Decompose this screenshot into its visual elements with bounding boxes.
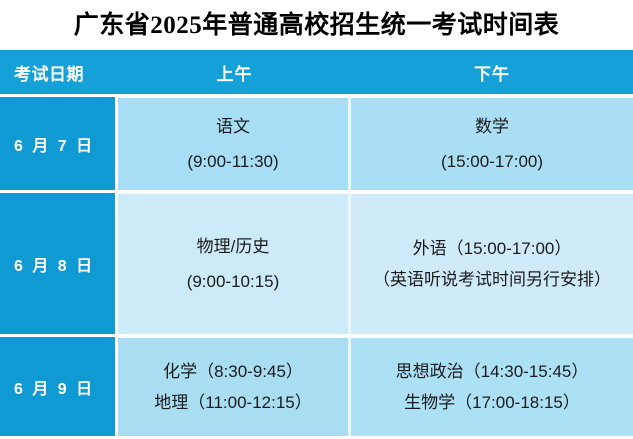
subject-name: 物理/历史 bbox=[197, 236, 270, 257]
subject-time: (15:00-17:00) bbox=[441, 151, 543, 172]
column-header-date: 考试日期 bbox=[0, 50, 118, 94]
page-title: 广东省2025年普通高校招生统一考试时间表 bbox=[74, 13, 560, 38]
cell-afternoon-session: 外语（15:00-17:00） （英语听说考试时间另行安排） bbox=[351, 190, 633, 334]
subject-name-time: 思想政治（14:30-15:45） bbox=[396, 361, 589, 382]
page-title-bar: 广东省2025年普通高校招生统一考试时间表 bbox=[0, 0, 633, 50]
subject-note: （英语听说考试时间另行安排） bbox=[373, 269, 611, 290]
exam-schedule-page: 广东省2025年普通高校招生统一考试时间表 考试日期 上午 下午 6 月 7 日… bbox=[0, 0, 633, 439]
cell-morning-session: 语文 (9:00-11:30) bbox=[118, 94, 351, 190]
table-row: 6 月 9 日 化学（8:30-9:45） 地理（11:00-12:15） 思想… bbox=[0, 334, 633, 436]
cell-exam-date: 6 月 9 日 bbox=[0, 334, 118, 436]
cell-morning-session: 化学（8:30-9:45） 地理（11:00-12:15） bbox=[118, 334, 351, 436]
subject-name-time: 生物学（17:00-18:15） bbox=[404, 392, 580, 413]
table-body: 6 月 7 日 语文 (9:00-11:30) 数学 (15:00-17:00)… bbox=[0, 94, 633, 436]
subject-time: (9:00-11:30) bbox=[187, 151, 278, 172]
subject-time: (9:00-10:15) bbox=[187, 271, 280, 292]
cell-afternoon-session: 数学 (15:00-17:00) bbox=[351, 94, 633, 190]
table-header: 考试日期 上午 下午 bbox=[0, 50, 633, 94]
subject-name-time: 地理（11:00-12:15） bbox=[154, 392, 311, 413]
subject-name-time: 外语（15:00-17:00） bbox=[413, 238, 572, 259]
cell-afternoon-session: 思想政治（14:30-15:45） 生物学（17:00-18:15） bbox=[351, 334, 633, 436]
subject-name-time: 化学（8:30-9:45） bbox=[163, 361, 303, 382]
cell-exam-date: 6 月 8 日 bbox=[0, 190, 118, 334]
column-header-afternoon: 下午 bbox=[351, 50, 633, 94]
table-row: 6 月 7 日 语文 (9:00-11:30) 数学 (15:00-17:00) bbox=[0, 94, 633, 190]
cell-exam-date: 6 月 7 日 bbox=[0, 94, 118, 190]
table-row: 6 月 8 日 物理/历史 (9:00-10:15) 外语（15:00-17:0… bbox=[0, 190, 633, 334]
table-header-row: 考试日期 上午 下午 bbox=[0, 50, 633, 94]
exam-schedule-table: 考试日期 上午 下午 6 月 7 日 语文 (9:00-11:30) 数学 (1… bbox=[0, 50, 633, 436]
column-header-morning: 上午 bbox=[118, 50, 351, 94]
subject-name: 数学 bbox=[475, 116, 509, 137]
cell-morning-session: 物理/历史 (9:00-10:15) bbox=[118, 190, 351, 334]
subject-name: 语文 bbox=[216, 116, 250, 137]
